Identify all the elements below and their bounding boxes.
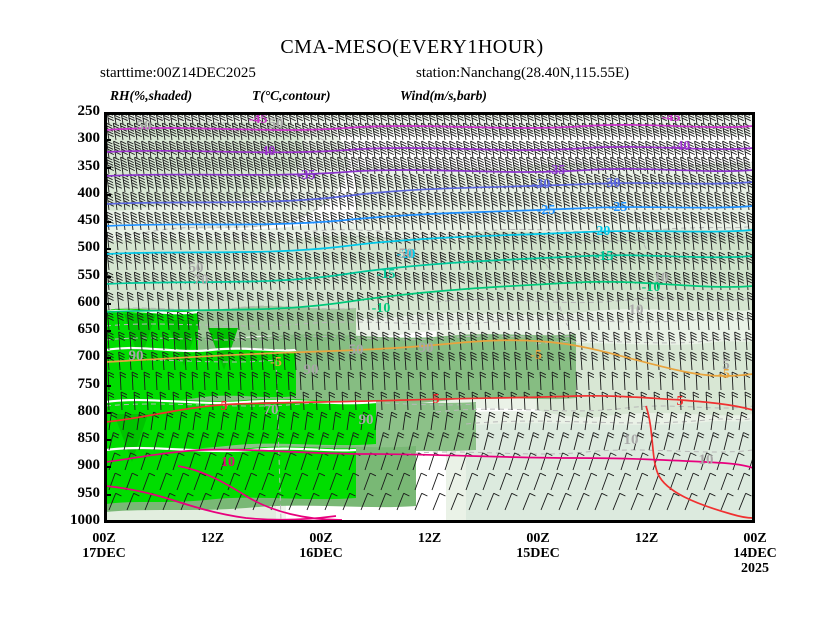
y-axis-label: 700 (78, 349, 101, 364)
y-axis-tick (104, 248, 111, 250)
svg-text:-15: -15 (595, 249, 614, 264)
y-axis-tick (104, 385, 111, 387)
y-axis-tick (104, 494, 111, 496)
svg-text:50: 50 (399, 246, 414, 262)
svg-text:-10: -10 (372, 301, 391, 316)
legend-temp: T(°C,contour) (252, 88, 331, 104)
svg-text:-35: -35 (297, 168, 316, 183)
svg-text:70: 70 (194, 272, 209, 288)
y-axis-tick (104, 439, 111, 441)
svg-text:-45: -45 (662, 114, 681, 125)
y-axis-label: 650 (78, 322, 101, 337)
y-axis-label: 800 (78, 404, 101, 419)
svg-text:-15: -15 (377, 267, 396, 282)
y-axis-label: 900 (78, 458, 101, 473)
y-axis-label: 850 (78, 431, 101, 446)
svg-text:5: 5 (722, 357, 730, 373)
svg-text:-20: -20 (592, 224, 611, 239)
svg-text:-25: -25 (609, 200, 628, 215)
svg-text:90: 90 (419, 340, 434, 356)
svg-text:-25: -25 (537, 203, 556, 218)
variable-legend: RH(%,shaded) T(°C,contour) Wind(m/s,barb… (110, 88, 670, 106)
y-axis-tick (104, 194, 111, 196)
station-label: station:Nanchang(28.40N,115.55E) (416, 65, 629, 82)
x-axis-label: 00Z14DEC2025 (733, 531, 777, 576)
chart-canvas: -45-45 -40-40 -35-35 -30-30 -25-25 -20-2… (106, 114, 753, 521)
svg-text:5: 5 (677, 394, 684, 409)
x-axis: 00Z17DEC12Z00Z16DEC12Z00Z15DEC12Z00Z14DE… (104, 527, 755, 597)
svg-text:10: 10 (221, 455, 235, 470)
y-axis-label: 400 (78, 186, 101, 201)
x-axis-label: 12Z (201, 531, 224, 546)
svg-text:10: 10 (629, 302, 644, 318)
time-height-cross-section[interactable]: -45-45 -40-40 -35-35 -30-30 -25-25 -20-2… (104, 112, 755, 523)
legend-wind: Wind(m/s,barb) (400, 88, 487, 104)
y-axis-tick (104, 112, 111, 114)
y-axis-label: 450 (78, 213, 101, 228)
svg-text:-30: -30 (602, 176, 621, 191)
y-axis-tick (104, 466, 111, 468)
y-axis-label: 1000 (70, 513, 100, 528)
x-axis-label: 12Z (635, 531, 658, 546)
svg-text:-40: -40 (672, 139, 691, 154)
x-axis-label: 00Z15DEC (516, 531, 560, 561)
svg-text:90: 90 (359, 412, 374, 428)
y-axis-label: 600 (78, 295, 101, 310)
svg-text:50: 50 (349, 342, 364, 358)
svg-text:-45: -45 (249, 114, 268, 127)
y-axis-label: 300 (78, 131, 101, 146)
x-axis-label: 00Z16DEC (299, 531, 343, 561)
y-axis-tick (104, 412, 111, 414)
svg-text:50: 50 (269, 116, 284, 132)
svg-text:90: 90 (304, 362, 319, 378)
svg-text:10: 10 (654, 270, 669, 286)
svg-text:-30: -30 (532, 177, 551, 192)
x-axis-label: 00Z17DEC (82, 531, 126, 561)
y-axis-tick (104, 303, 111, 305)
starttime-label: starttime:00Z14DEC2025 (100, 65, 256, 82)
svg-text:50: 50 (137, 118, 152, 134)
y-axis: 2503003504004505005506006507007508008509… (48, 112, 100, 523)
y-axis-label: 500 (78, 240, 101, 255)
y-axis-label: 550 (78, 268, 101, 283)
svg-text:5: 5 (221, 399, 228, 414)
svg-text:90: 90 (129, 348, 144, 364)
y-axis-label: 250 (78, 104, 101, 119)
y-axis-tick (104, 167, 111, 169)
svg-text:10: 10 (699, 452, 714, 468)
svg-text:-5: -5 (530, 348, 542, 363)
y-axis-label: 350 (78, 159, 101, 174)
y-axis-tick (104, 221, 111, 223)
y-axis-tick (104, 276, 111, 278)
svg-text:-5: -5 (270, 355, 282, 370)
svg-text:10: 10 (624, 432, 639, 448)
x-axis-label: 12Z (418, 531, 441, 546)
svg-text:-40: -40 (257, 144, 276, 159)
y-axis-tick (104, 521, 111, 523)
page-title: CMA-MESO(EVERY1HOUR) (0, 36, 824, 59)
y-axis-tick (104, 139, 111, 141)
svg-text:5: 5 (433, 392, 440, 407)
y-axis-tick (104, 330, 111, 332)
svg-text:-35: -35 (547, 163, 566, 178)
y-axis-tick (104, 357, 111, 359)
y-axis-label: 950 (78, 486, 101, 501)
y-axis-label: 750 (78, 377, 101, 392)
legend-rh: RH(%,shaded) (110, 88, 192, 104)
svg-text:70: 70 (264, 402, 279, 418)
